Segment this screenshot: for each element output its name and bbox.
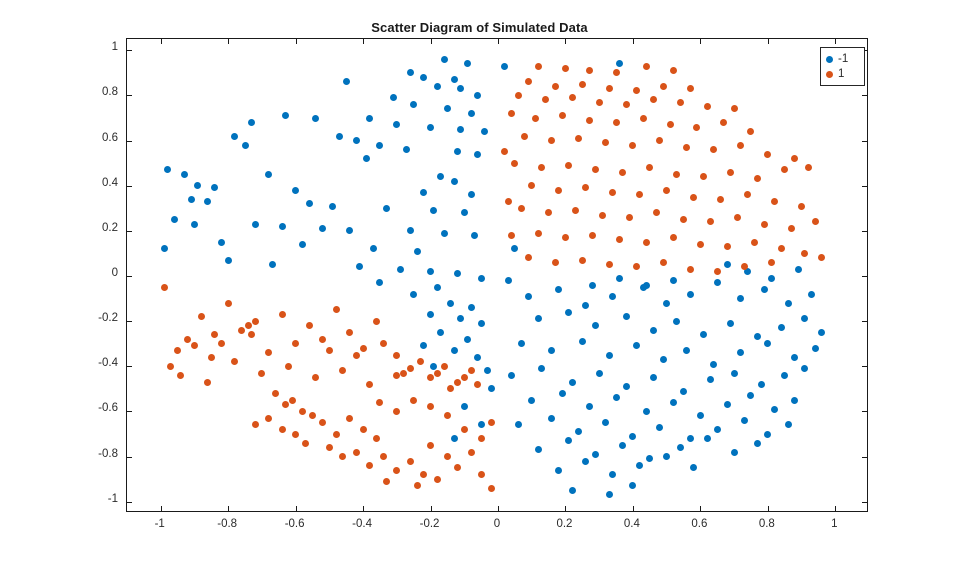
scatter-point xyxy=(801,365,808,372)
scatter-point xyxy=(710,361,717,368)
scatter-point xyxy=(164,166,171,173)
scatter-point xyxy=(292,431,299,438)
scatter-point xyxy=(299,408,306,415)
scatter-point xyxy=(528,397,535,404)
scatter-point xyxy=(427,124,434,131)
scatter-point xyxy=(518,340,525,347)
scatter-point xyxy=(208,354,215,361)
scatter-point xyxy=(697,412,704,419)
scatter-point xyxy=(252,421,259,428)
scatter-point xyxy=(410,291,417,298)
x-tick-mark-top xyxy=(700,39,701,44)
scatter-point xyxy=(451,76,458,83)
scatter-point xyxy=(525,293,532,300)
legend-label: -1 xyxy=(838,54,848,65)
scatter-point xyxy=(366,462,373,469)
scatter-point xyxy=(198,313,205,320)
scatter-point xyxy=(619,442,626,449)
x-tick-label: -0.6 xyxy=(265,518,325,530)
x-tick-mark-top xyxy=(161,39,162,44)
scatter-point xyxy=(673,171,680,178)
scatter-point xyxy=(468,367,475,374)
scatter-point xyxy=(279,426,286,433)
scatter-point xyxy=(613,69,620,76)
scatter-point xyxy=(319,336,326,343)
scatter-point xyxy=(761,221,768,228)
scatter-point xyxy=(454,270,461,277)
scatter-point xyxy=(734,214,741,221)
scatter-point xyxy=(812,345,819,352)
scatter-point xyxy=(420,189,427,196)
scatter-point xyxy=(758,381,765,388)
scatter-point xyxy=(538,164,545,171)
scatter-point xyxy=(474,354,481,361)
x-tick-mark xyxy=(565,506,566,511)
scatter-point xyxy=(629,433,636,440)
scatter-point xyxy=(623,313,630,320)
scatter-point xyxy=(441,363,448,370)
scatter-point xyxy=(731,105,738,112)
scatter-point xyxy=(575,135,582,142)
scatter-point xyxy=(434,476,441,483)
scatter-point xyxy=(508,232,515,239)
scatter-point xyxy=(188,196,195,203)
scatter-point xyxy=(741,417,748,424)
scatter-point xyxy=(656,137,663,144)
scatter-point xyxy=(407,69,414,76)
scatter-point xyxy=(343,78,350,85)
scatter-point xyxy=(552,83,559,90)
scatter-point xyxy=(420,342,427,349)
y-tick-mark-right xyxy=(862,95,867,96)
x-tick-label: -1 xyxy=(130,518,190,530)
scatter-point xyxy=(306,200,313,207)
scatter-point xyxy=(242,142,249,149)
scatter-point xyxy=(410,397,417,404)
y-tick-label: 0.2 xyxy=(66,222,118,234)
scatter-point xyxy=(707,218,714,225)
scatter-point xyxy=(643,239,650,246)
scatter-plot-area xyxy=(127,39,867,511)
scatter-point xyxy=(457,85,464,92)
scatter-point xyxy=(667,121,674,128)
scatter-point xyxy=(248,119,255,126)
scatter-point xyxy=(596,370,603,377)
scatter-point xyxy=(299,241,306,248)
scatter-point xyxy=(370,245,377,252)
scatter-point xyxy=(309,412,316,419)
y-tick-mark xyxy=(127,321,132,322)
y-tick-mark xyxy=(127,502,132,503)
scatter-point xyxy=(373,435,380,442)
scatter-point xyxy=(535,63,542,70)
scatter-point xyxy=(650,374,657,381)
scatter-point xyxy=(565,437,572,444)
scatter-point xyxy=(791,354,798,361)
scatter-point xyxy=(515,421,522,428)
scatter-point xyxy=(393,121,400,128)
scatter-point xyxy=(582,302,589,309)
scatter-point xyxy=(434,83,441,90)
scatter-point xyxy=(687,85,694,92)
scatter-point xyxy=(478,275,485,282)
scatter-point xyxy=(555,467,562,474)
scatter-point xyxy=(801,250,808,257)
scatter-point xyxy=(592,451,599,458)
x-tick-mark xyxy=(633,506,634,511)
scatter-point xyxy=(633,263,640,270)
scatter-point xyxy=(643,408,650,415)
scatter-point xyxy=(636,462,643,469)
scatter-point xyxy=(683,144,690,151)
legend-box[interactable]: -11 xyxy=(820,47,865,86)
scatter-point xyxy=(528,182,535,189)
scatter-point xyxy=(420,471,427,478)
scatter-point xyxy=(184,336,191,343)
scatter-point xyxy=(174,347,181,354)
scatter-point xyxy=(613,394,620,401)
scatter-point xyxy=(461,209,468,216)
y-tick-mark xyxy=(127,411,132,412)
scatter-point xyxy=(427,311,434,318)
scatter-point xyxy=(282,112,289,119)
y-tick-label: -0.6 xyxy=(66,402,118,414)
scatter-point xyxy=(225,257,232,264)
scatter-point xyxy=(434,284,441,291)
scatter-point xyxy=(211,331,218,338)
y-tick-mark xyxy=(127,366,132,367)
scatter-point xyxy=(633,87,640,94)
scatter-point xyxy=(663,453,670,460)
scatter-point xyxy=(194,182,201,189)
scatter-point xyxy=(521,133,528,140)
scatter-point xyxy=(353,449,360,456)
legend-label: 1 xyxy=(838,69,844,80)
x-tick-mark-top xyxy=(228,39,229,44)
scatter-point xyxy=(383,205,390,212)
scatter-point xyxy=(427,403,434,410)
figure-canvas: Scatter Diagram of Simulated Data -1-0.8… xyxy=(0,0,959,577)
y-tick-label: 0.6 xyxy=(66,132,118,144)
scatter-point xyxy=(781,372,788,379)
x-tick-label: -0.8 xyxy=(197,518,257,530)
scatter-point xyxy=(285,363,292,370)
scatter-point xyxy=(437,173,444,180)
scatter-point xyxy=(660,259,667,266)
x-tick-mark xyxy=(296,506,297,511)
x-tick-mark xyxy=(498,506,499,511)
y-tick-label: 0 xyxy=(66,267,118,279)
scatter-point xyxy=(670,399,677,406)
scatter-point xyxy=(737,349,744,356)
scatter-point xyxy=(312,115,319,122)
scatter-point xyxy=(218,239,225,246)
scatter-point xyxy=(346,227,353,234)
scatter-point xyxy=(454,148,461,155)
scatter-point xyxy=(602,139,609,146)
x-tick-mark xyxy=(363,506,364,511)
scatter-point xyxy=(464,60,471,67)
scatter-point xyxy=(670,277,677,284)
scatter-point xyxy=(535,446,542,453)
scatter-point xyxy=(663,300,670,307)
scatter-point xyxy=(376,399,383,406)
scatter-point xyxy=(747,128,754,135)
scatter-point xyxy=(636,191,643,198)
scatter-point xyxy=(231,133,238,140)
y-tick-mark-right xyxy=(862,141,867,142)
scatter-point xyxy=(211,184,218,191)
scatter-point xyxy=(619,169,626,176)
scatter-point xyxy=(707,376,714,383)
scatter-point xyxy=(525,254,532,261)
scatter-point xyxy=(714,426,721,433)
scatter-point xyxy=(511,245,518,252)
legend-item[interactable]: 1 xyxy=(826,67,864,82)
scatter-point xyxy=(471,232,478,239)
scatter-point xyxy=(333,431,340,438)
scatter-point xyxy=(447,385,454,392)
scatter-point xyxy=(616,275,623,282)
scatter-point xyxy=(582,458,589,465)
scatter-point xyxy=(650,96,657,103)
scatter-point xyxy=(687,291,694,298)
scatter-point xyxy=(451,178,458,185)
scatter-point xyxy=(505,277,512,284)
legend-item[interactable]: -1 xyxy=(826,52,864,67)
scatter-point xyxy=(505,198,512,205)
scatter-point xyxy=(609,189,616,196)
scatter-point xyxy=(279,311,286,318)
scatter-point xyxy=(488,385,495,392)
scatter-point xyxy=(724,261,731,268)
scatter-point xyxy=(623,383,630,390)
scatter-point xyxy=(430,363,437,370)
x-tick-label: 0 xyxy=(467,518,527,530)
scatter-point xyxy=(302,440,309,447)
scatter-point xyxy=(393,408,400,415)
x-tick-mark-top xyxy=(768,39,769,44)
scatter-point xyxy=(393,467,400,474)
x-tick-label: 0.4 xyxy=(602,518,662,530)
scatter-point xyxy=(606,491,613,498)
y-tick-mark xyxy=(127,276,132,277)
scatter-point xyxy=(326,347,333,354)
scatter-point xyxy=(289,397,296,404)
scatter-point xyxy=(693,124,700,131)
scatter-point xyxy=(626,214,633,221)
scatter-point xyxy=(339,453,346,460)
scatter-point xyxy=(535,315,542,322)
scatter-point xyxy=(704,103,711,110)
scatter-point xyxy=(548,347,555,354)
scatter-point xyxy=(451,435,458,442)
scatter-point xyxy=(312,374,319,381)
scatter-point xyxy=(363,155,370,162)
scatter-point xyxy=(801,315,808,322)
scatter-point xyxy=(555,286,562,293)
scatter-point xyxy=(447,300,454,307)
scatter-point xyxy=(474,92,481,99)
scatter-point xyxy=(660,356,667,363)
scatter-point xyxy=(700,331,707,338)
scatter-point xyxy=(754,440,761,447)
scatter-point xyxy=(252,318,259,325)
scatter-point xyxy=(727,169,734,176)
scatter-point xyxy=(680,388,687,395)
scatter-point xyxy=(346,415,353,422)
scatter-point xyxy=(269,261,276,268)
scatter-point xyxy=(397,266,404,273)
scatter-point xyxy=(754,175,761,182)
x-tick-label: 0.6 xyxy=(669,518,729,530)
scatter-point xyxy=(771,198,778,205)
scatter-point xyxy=(265,349,272,356)
x-tick-mark-top xyxy=(296,39,297,44)
scatter-point xyxy=(579,338,586,345)
scatter-point xyxy=(319,225,326,232)
scatter-point xyxy=(768,275,775,282)
x-tick-mark xyxy=(700,506,701,511)
scatter-point xyxy=(468,449,475,456)
y-tick-mark-right xyxy=(862,186,867,187)
y-tick-mark xyxy=(127,50,132,51)
y-tick-label: -0.8 xyxy=(66,448,118,460)
scatter-point xyxy=(575,428,582,435)
y-tick-label: -1 xyxy=(66,493,118,505)
scatter-point xyxy=(710,146,717,153)
scatter-point xyxy=(643,282,650,289)
scatter-point xyxy=(646,164,653,171)
scatter-point xyxy=(737,295,744,302)
scatter-point xyxy=(282,401,289,408)
x-tick-mark xyxy=(835,506,836,511)
scatter-point xyxy=(339,367,346,374)
y-tick-label: 0.8 xyxy=(66,86,118,98)
scatter-point xyxy=(360,426,367,433)
scatter-point xyxy=(613,119,620,126)
scatter-point xyxy=(383,478,390,485)
scatter-point xyxy=(633,342,640,349)
scatter-point xyxy=(562,234,569,241)
scatter-point xyxy=(548,415,555,422)
scatter-point xyxy=(468,191,475,198)
y-tick-label: -0.4 xyxy=(66,357,118,369)
scatter-point xyxy=(761,286,768,293)
plot-axes xyxy=(126,38,868,512)
scatter-point xyxy=(795,266,802,273)
scatter-point xyxy=(461,426,468,433)
scatter-point xyxy=(437,329,444,336)
scatter-point xyxy=(552,259,559,266)
scatter-point xyxy=(744,191,751,198)
scatter-point xyxy=(687,435,694,442)
scatter-point xyxy=(161,284,168,291)
y-tick-mark xyxy=(127,231,132,232)
scatter-point xyxy=(525,78,532,85)
scatter-point xyxy=(501,148,508,155)
scatter-point xyxy=(812,218,819,225)
scatter-point xyxy=(599,212,606,219)
scatter-point xyxy=(279,223,286,230)
scatter-point xyxy=(589,282,596,289)
scatter-point xyxy=(623,101,630,108)
scatter-point xyxy=(427,268,434,275)
scatter-point xyxy=(683,347,690,354)
scatter-point xyxy=(545,209,552,216)
scatter-point xyxy=(562,65,569,72)
scatter-point xyxy=(444,412,451,419)
scatter-point xyxy=(444,105,451,112)
scatter-point xyxy=(805,164,812,171)
scatter-point xyxy=(457,126,464,133)
scatter-point xyxy=(380,340,387,347)
scatter-point xyxy=(714,279,721,286)
scatter-point xyxy=(353,352,360,359)
scatter-point xyxy=(747,392,754,399)
chart-title: Scatter Diagram of Simulated Data xyxy=(0,20,959,35)
scatter-point xyxy=(616,236,623,243)
scatter-point xyxy=(366,115,373,122)
y-tick-mark xyxy=(127,186,132,187)
scatter-point xyxy=(586,67,593,74)
scatter-point xyxy=(569,487,576,494)
scatter-point xyxy=(225,300,232,307)
scatter-point xyxy=(400,370,407,377)
scatter-point xyxy=(592,166,599,173)
scatter-point xyxy=(697,241,704,248)
scatter-point xyxy=(420,74,427,81)
scatter-point xyxy=(609,293,616,300)
scatter-point xyxy=(191,342,198,349)
scatter-point xyxy=(346,329,353,336)
x-tick-label: 0.2 xyxy=(534,518,594,530)
scatter-point xyxy=(818,254,825,261)
scatter-point xyxy=(532,115,539,122)
x-tick-mark xyxy=(161,506,162,511)
scatter-point xyxy=(171,216,178,223)
scatter-point xyxy=(218,340,225,347)
scatter-point xyxy=(407,365,414,372)
scatter-point xyxy=(646,455,653,462)
scatter-point xyxy=(643,63,650,70)
scatter-point xyxy=(177,372,184,379)
y-tick-label: 0.4 xyxy=(66,177,118,189)
scatter-point xyxy=(410,101,417,108)
scatter-point xyxy=(589,232,596,239)
scatter-point xyxy=(468,304,475,311)
scatter-point xyxy=(393,352,400,359)
scatter-point xyxy=(565,162,572,169)
scatter-point xyxy=(488,485,495,492)
scatter-point xyxy=(764,151,771,158)
scatter-point xyxy=(565,309,572,316)
scatter-point xyxy=(508,372,515,379)
scatter-point xyxy=(457,315,464,322)
scatter-point xyxy=(427,374,434,381)
scatter-point xyxy=(481,128,488,135)
x-tick-mark xyxy=(431,506,432,511)
scatter-point xyxy=(265,415,272,422)
scatter-point xyxy=(248,331,255,338)
scatter-point xyxy=(785,300,792,307)
scatter-point xyxy=(670,234,677,241)
scatter-point xyxy=(336,133,343,140)
scatter-point xyxy=(360,345,367,352)
scatter-point xyxy=(606,261,613,268)
scatter-point xyxy=(737,142,744,149)
scatter-point xyxy=(677,99,684,106)
